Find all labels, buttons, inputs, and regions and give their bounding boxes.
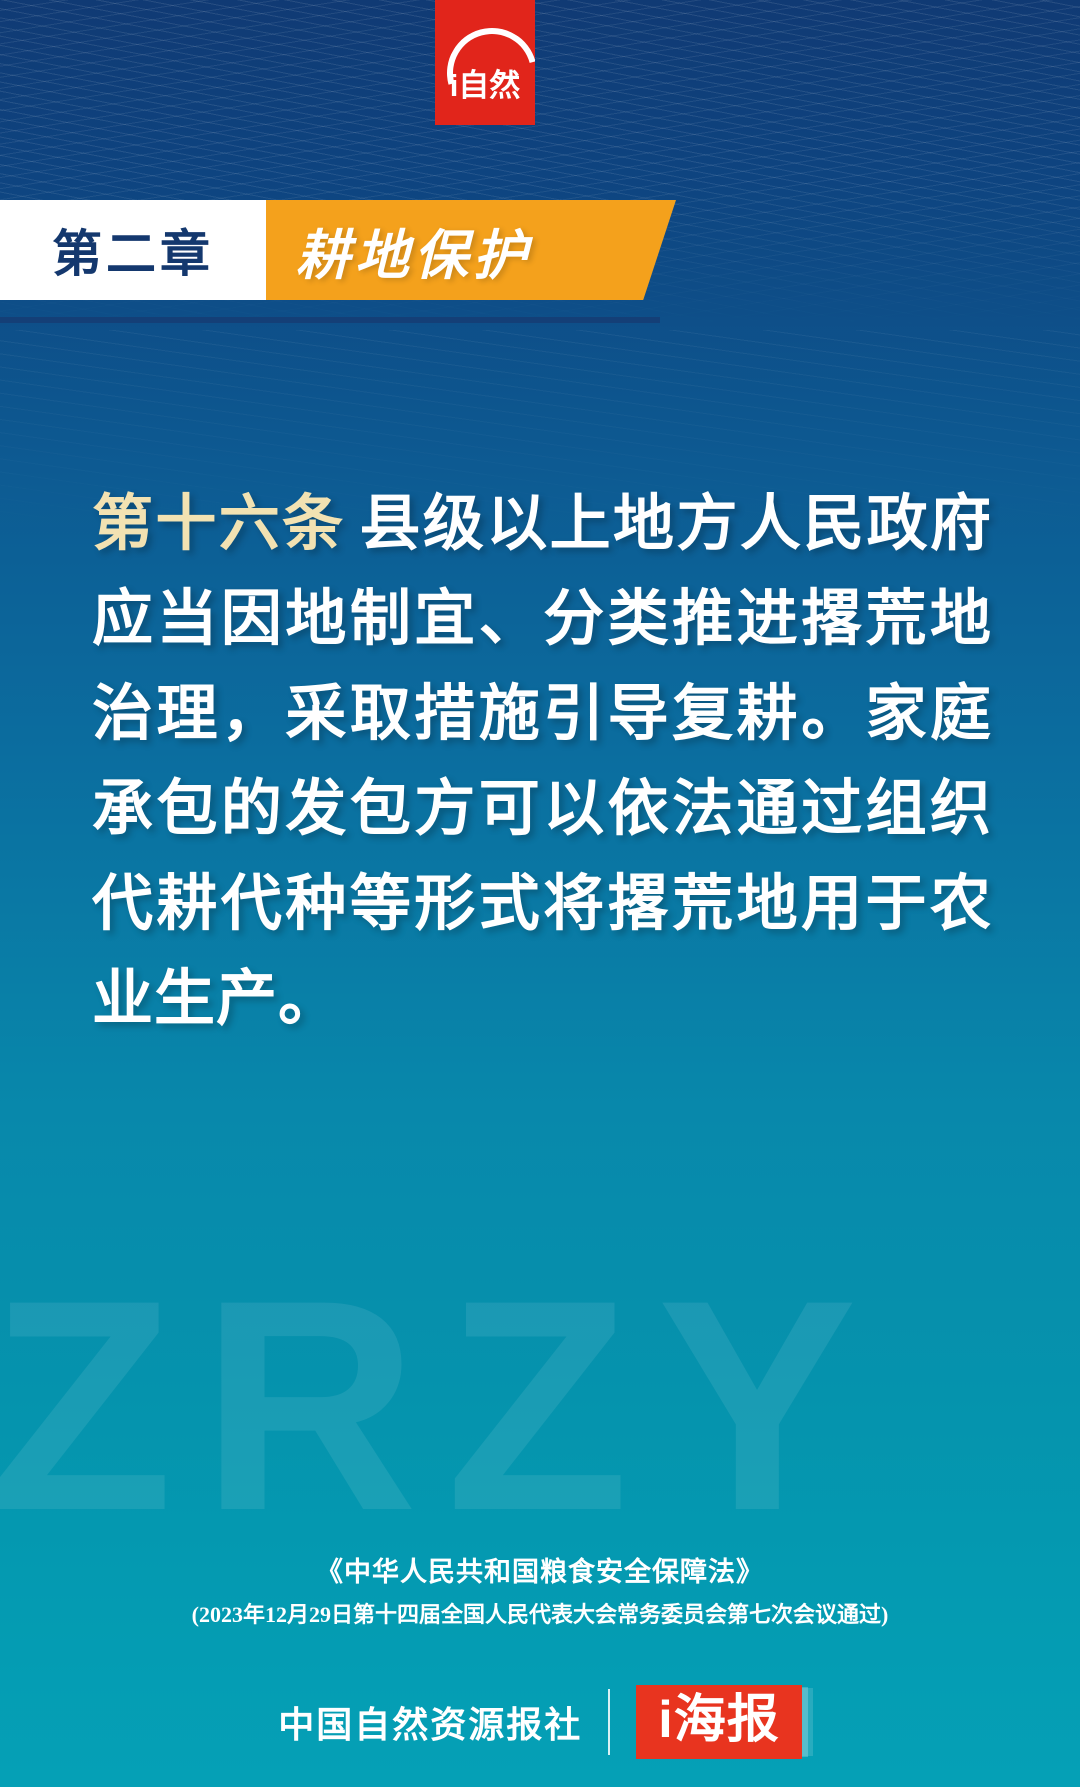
- law-passed-note: (2023年12月29日第十四届全国人民代表大会常务委员会第七次会议通过): [0, 1597, 1080, 1629]
- poster-canvas: i自然 第二章 耕地保护 第十六条县级以上地方人民政府应当因地制宜、分类推进撂荒…: [0, 0, 1080, 1787]
- chapter-label-block: 第二章: [0, 200, 266, 300]
- source-credit: 《中华人民共和国粮食安全保障法》 (2023年12月29日第十四届全国人民代表大…: [0, 1550, 1080, 1629]
- footer-divider: [608, 1689, 610, 1755]
- article-paragraph: 第十六条县级以上地方人民政府应当因地制宜、分类推进撂荒地治理，采取措施引导复耕。…: [92, 476, 992, 1046]
- footer-bar: 中国自然资源报社 i海报: [0, 1672, 1080, 1772]
- chapter-title-block: 耕地保护: [266, 200, 676, 300]
- chapter-title: 耕地保护: [296, 211, 532, 290]
- publisher-name: 中国自然资源报社: [278, 1696, 582, 1748]
- banner-underline: [0, 317, 660, 323]
- article-number: 第十六条: [92, 489, 346, 557]
- ihaibao-logo-text: i海报: [658, 1693, 779, 1748]
- article-body: 第十六条县级以上地方人民政府应当因地制宜、分类推进撂荒地治理，采取措施引导复耕。…: [92, 476, 992, 1046]
- article-text: 县级以上地方人民政府应当因地制宜、分类推进撂荒地治理，采取措施引导复耕。家庭承包…: [92, 489, 992, 1032]
- ihaibao-logo: i海报: [636, 1685, 801, 1760]
- zrzy-watermark: ZRZY: [0, 1255, 1080, 1555]
- izran-logo: i自然: [435, 0, 535, 125]
- law-title: 《中华人民共和国粮食安全保障法》: [0, 1550, 1080, 1589]
- logo-text: i自然: [450, 70, 521, 125]
- chapter-label: 第二章: [52, 214, 214, 286]
- chapter-banner: 第二章 耕地保护: [0, 200, 676, 300]
